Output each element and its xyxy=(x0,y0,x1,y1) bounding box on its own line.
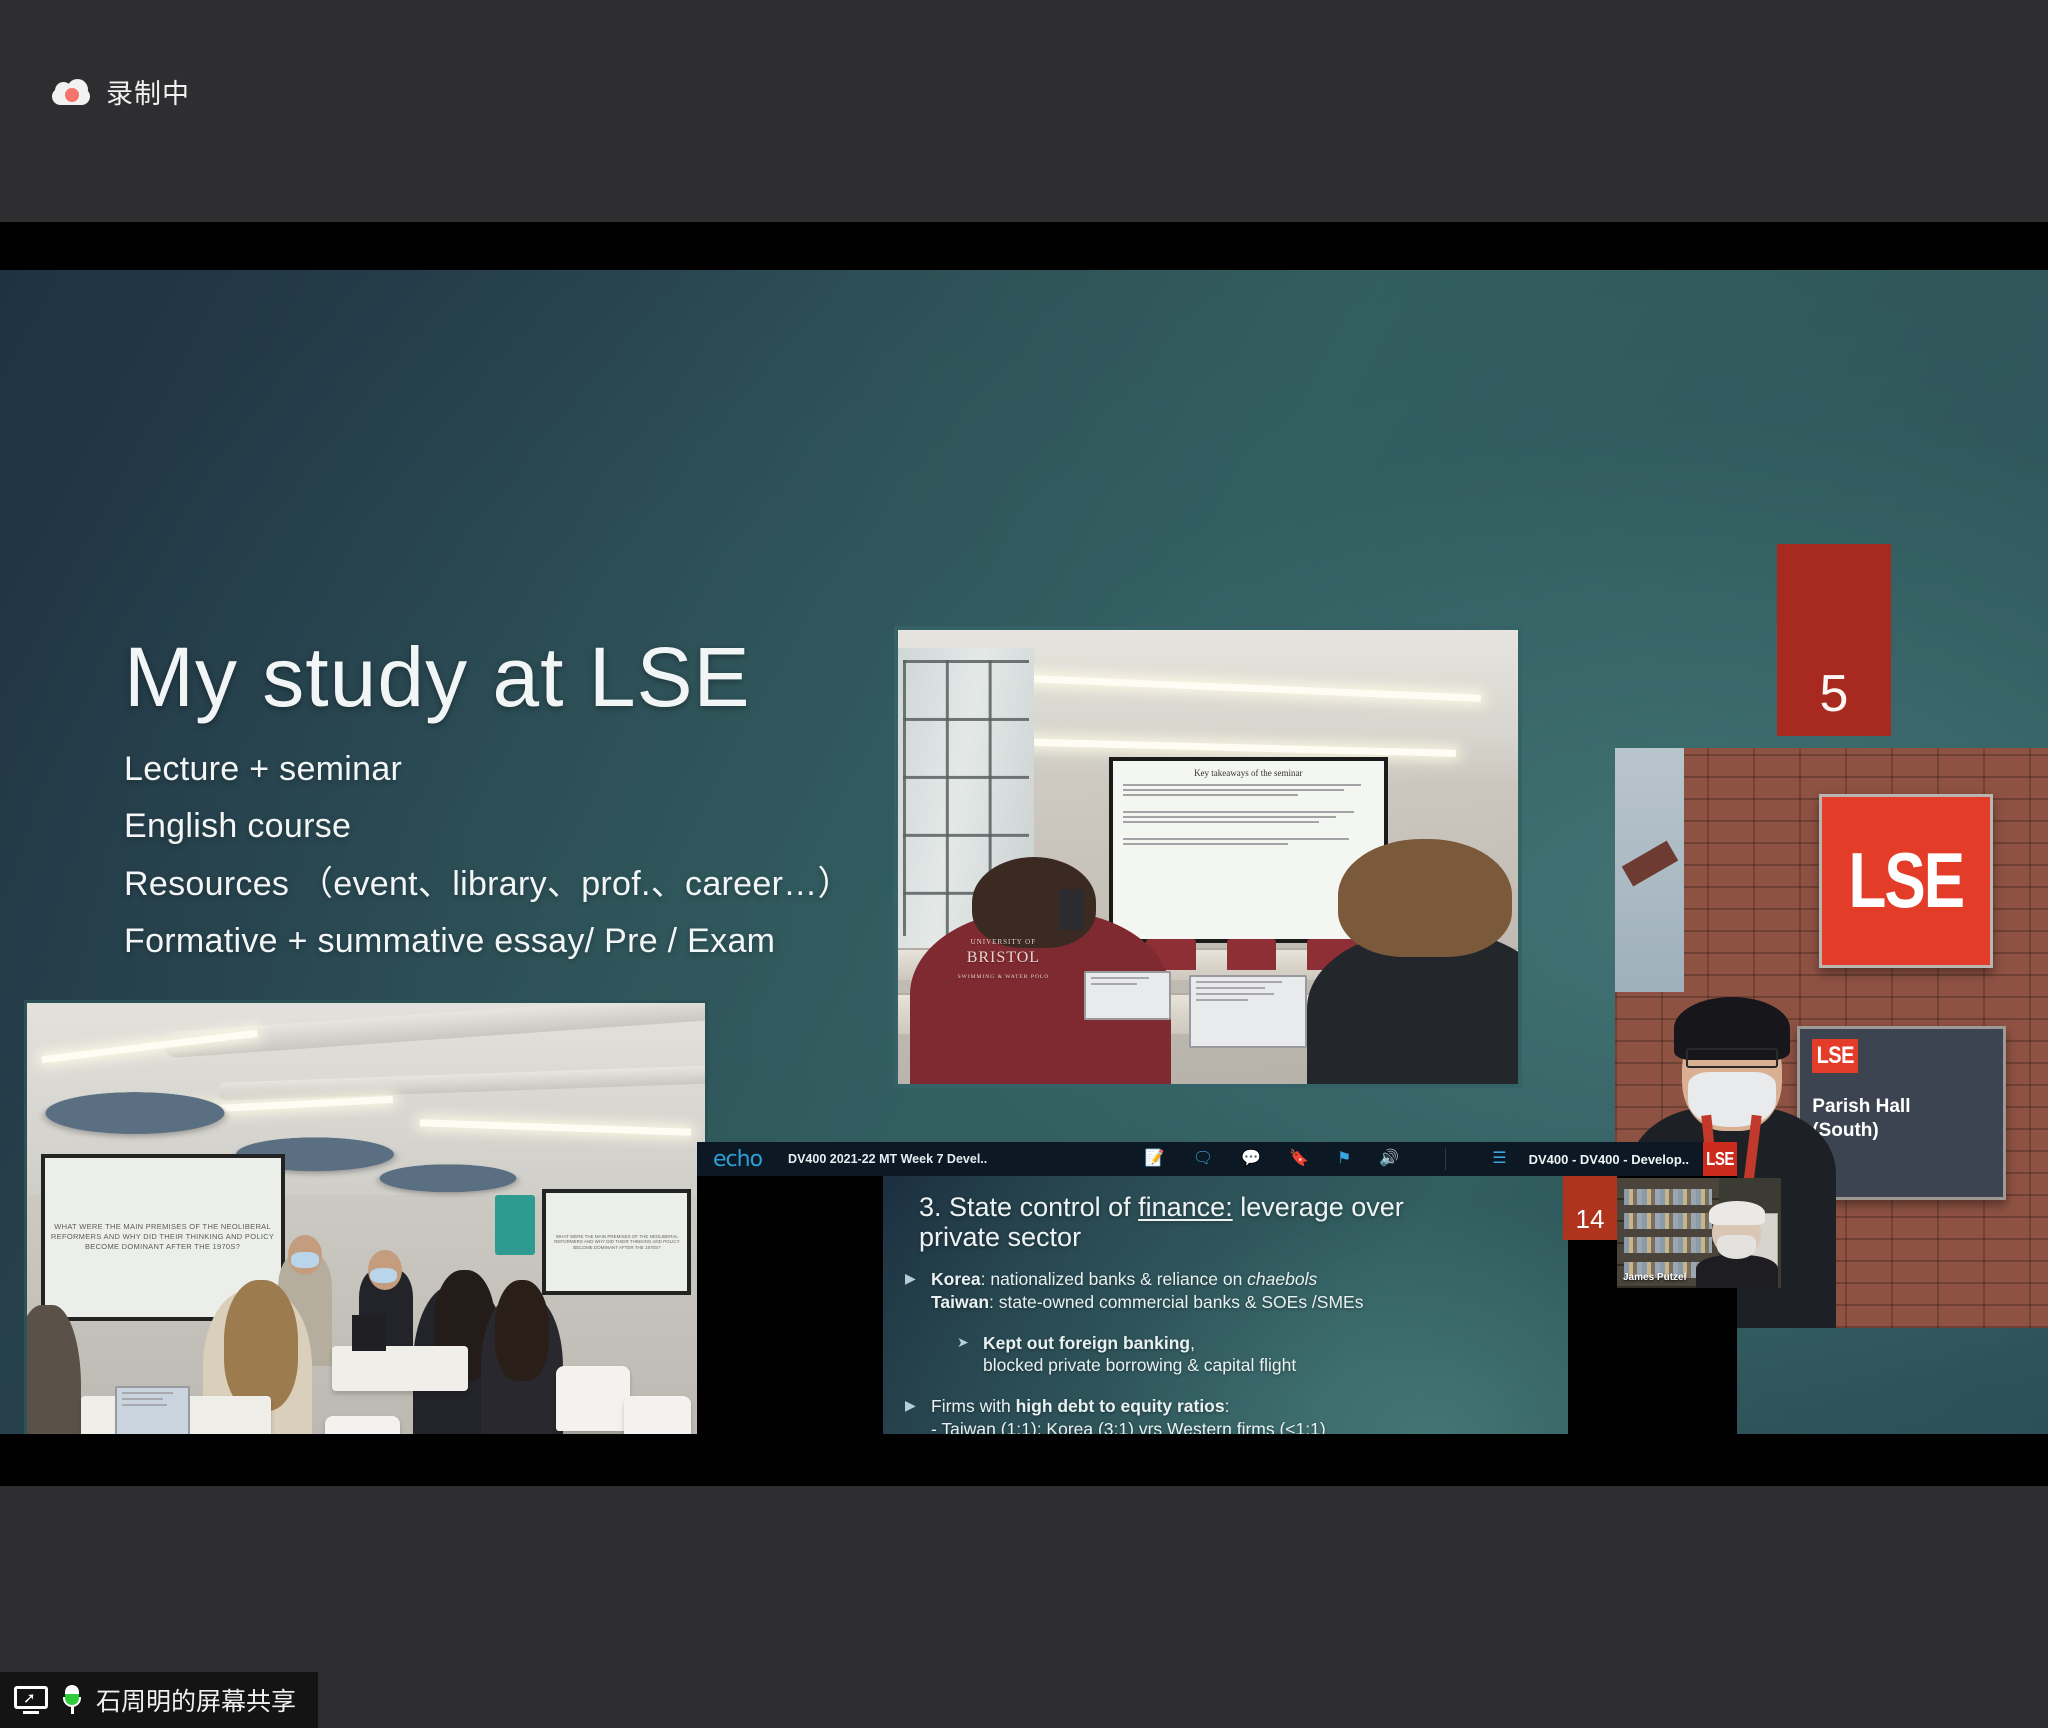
echo-slide-bullets: ▶ Korea: nationalized banks & reliance o… xyxy=(905,1268,1545,1434)
lse-big-sign: LSE xyxy=(1819,794,1993,968)
zoom-top-bar: 录制中 xyxy=(0,0,2048,222)
microphone-icon[interactable] xyxy=(62,1685,82,1715)
recording-label: 录制中 xyxy=(106,72,190,111)
toolbar-divider xyxy=(1445,1148,1446,1170)
echo360-toolbar[interactable]: echo DV400 2021-22 MT Week 7 Devel.. 📝 🗨… xyxy=(697,1142,1737,1176)
recording-indicator[interactable]: 录制中 xyxy=(52,72,190,111)
zoom-meeting-window: 录制中 My study at LSE Lecture + seminar En… xyxy=(0,0,2048,1728)
echo-slide-number-badge: 14 xyxy=(1563,1176,1617,1240)
echo360-slide: 3. State control of finance: leverage ov… xyxy=(883,1176,1568,1434)
zoom-bottom-bar: ➚ 石周明的屏幕共享 xyxy=(0,1486,2048,1728)
slide-bullet-3: Formative + summative essay/ Pre / Exam xyxy=(124,922,884,961)
notes-icon[interactable]: 📝 xyxy=(1145,1151,1165,1167)
screen-share-label: 石周明的屏幕共享 xyxy=(96,1682,296,1718)
echo360-player[interactable]: echo DV400 2021-22 MT Week 7 Devel.. 📝 🗨… xyxy=(697,1142,1737,1434)
echo-title-underline: finance: xyxy=(1138,1192,1233,1222)
bullet-arrow-icon: ➤ xyxy=(957,1332,973,1378)
parish-hall-line1: Parish Hall xyxy=(1812,1095,1990,1119)
projector-slide-title: Key takeaways of the seminar xyxy=(1123,768,1374,778)
lse-big-sign-text: LSE xyxy=(1848,837,1963,926)
presentation-room-photo: WHAT WERE THE MAIN PREMISES OF THE NEOLI… xyxy=(24,1000,708,1434)
lse-logo-text: LSE xyxy=(1706,1148,1734,1169)
presenter-name-label: James Putzel xyxy=(1623,1272,1686,1283)
presentation-tv-text: WHAT WERE THE MAIN PREMISES OF THE NEOLI… xyxy=(550,1234,683,1252)
echo360-right-title: DV400 - DV400 - Develop.. xyxy=(1529,1152,1689,1167)
echo-slide-number: 14 xyxy=(1576,1204,1605,1235)
slide-number-value: 5 xyxy=(1820,664,1849,724)
presentation-slide-text: WHAT WERE THE MAIN PREMISES OF THE NEOLI… xyxy=(51,1222,275,1252)
slide-number-badge: 5 xyxy=(1777,544,1891,736)
presentation-tv-screen: WHAT WERE THE MAIN PREMISES OF THE NEOLI… xyxy=(542,1189,691,1295)
echo-bullet-1: ➤ Kept out foreign banking,blocked priva… xyxy=(957,1332,1545,1378)
presentation-audio-icon[interactable]: 🔊 xyxy=(1379,1151,1399,1167)
bullet-triangle-icon: ▶ xyxy=(905,1395,921,1434)
screen-share-status-pill[interactable]: ➚ 石周明的屏幕共享 xyxy=(0,1672,318,1728)
echo-title-prefix: 3. State control of xyxy=(919,1192,1138,1222)
echo360-course-title: DV400 2021-22 MT Week 7 Devel.. xyxy=(788,1152,987,1166)
shared-screen-slide[interactable]: My study at LSE Lecture + seminar Englis… xyxy=(0,270,2048,1434)
parish-hall-line2: (South) xyxy=(1812,1119,1990,1143)
echo-slide-title: 3. State control of finance: leverage ov… xyxy=(919,1192,1479,1252)
slide-list-icon[interactable]: ☰ xyxy=(1492,1151,1506,1167)
bullet-triangle-icon: ▶ xyxy=(905,1268,921,1314)
ask-question-icon[interactable]: 💬 xyxy=(1241,1151,1261,1167)
echo-bullet-0: ▶ Korea: nationalized banks & reliance o… xyxy=(905,1268,1545,1314)
lse-logo-icon: LSE xyxy=(1703,1142,1737,1176)
cloud-recording-icon xyxy=(52,79,90,105)
flag-confusion-icon[interactable]: ⚑ xyxy=(1337,1151,1351,1167)
slide-bullet-list: Lecture + seminar English course Resourc… xyxy=(124,750,884,980)
discussions-icon[interactable]: 🗨 xyxy=(1193,1151,1213,1167)
slide-bullet-0: Lecture + seminar xyxy=(124,750,884,789)
letterbox-bottom xyxy=(0,1434,2048,1486)
echo360-logo: echo xyxy=(713,1147,762,1172)
presenter-webcam-thumbnail[interactable]: James Putzel xyxy=(1617,1178,1781,1288)
slide-bullet-1: English course xyxy=(124,807,884,846)
slide-title: My study at LSE xyxy=(124,635,751,719)
seminar-room-photo: Key takeaways of the seminar UNIVE xyxy=(894,626,1522,1088)
screen-share-icon: ➚ xyxy=(14,1686,48,1714)
bookmark-icon[interactable]: 🔖 xyxy=(1289,1151,1309,1167)
slide-bullet-2: Resources （event、library、prof.、career…） xyxy=(124,865,884,904)
letterbox-top xyxy=(0,222,2048,270)
echo-bullet-2: ▶ Firms with high debt to equity ratios:… xyxy=(905,1395,1545,1434)
